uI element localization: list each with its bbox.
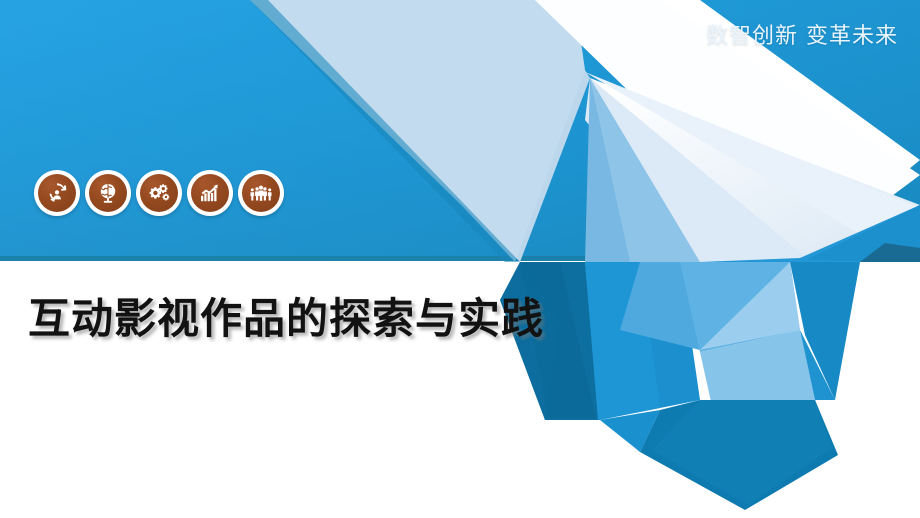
people-group-icon-disc [242,174,280,212]
background-artwork [0,0,920,518]
bar-chart-growth-icon[interactable] [187,170,233,216]
refresh-person-icon-disc [38,174,76,212]
gears-icon-disc [140,174,178,212]
people-group-icon[interactable] [238,170,284,216]
gears-icon[interactable] [136,170,182,216]
bar-chart-growth-icon-disc [191,174,229,212]
globe-icon[interactable] [85,170,131,216]
icon-row [34,170,284,216]
refresh-person-icon[interactable] [34,170,80,216]
page-title: 互动影视作品的探索与实践 [28,296,544,342]
globe-icon-disc [89,174,127,212]
slide-tagline: 数智创新 变革未来 [706,26,898,48]
title-slide: 数智创新 变革未来 [0,0,920,518]
